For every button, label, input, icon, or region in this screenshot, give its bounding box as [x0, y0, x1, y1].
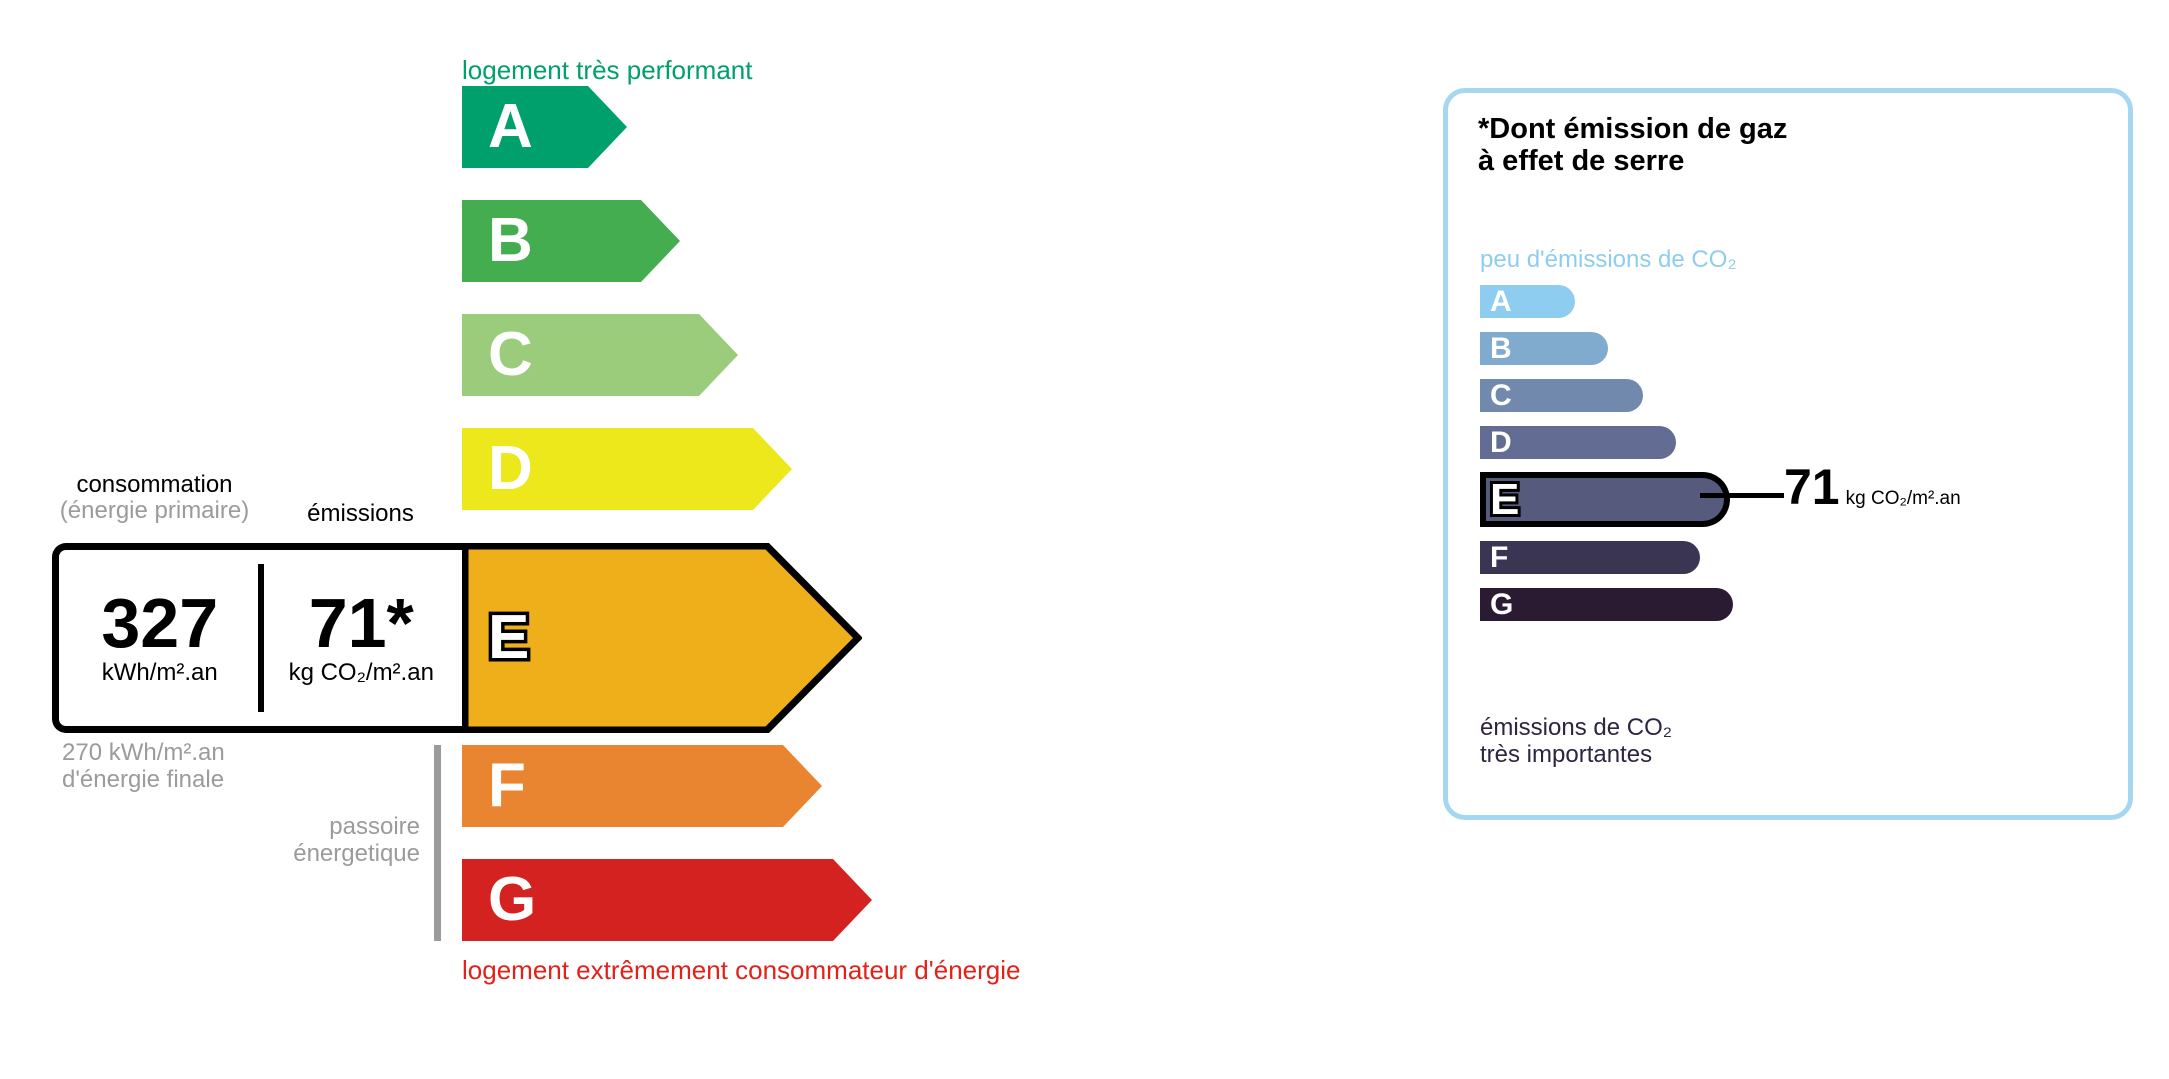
- arrow-shape-icon: [462, 86, 627, 168]
- co2-class-letter: G: [1490, 590, 1513, 620]
- final-energy-line2: d'énergie finale: [62, 766, 225, 793]
- passoire-energetique-label: passoire énergetique: [240, 813, 420, 868]
- consumption-value: 327: [101, 589, 218, 658]
- co2-class-bar-b[interactable]: B: [1480, 332, 1608, 365]
- energy-bottom-caption: logement extrêmement consommateur d'éner…: [462, 955, 1020, 986]
- co2-class-bar-d[interactable]: D: [1480, 426, 1676, 459]
- energy-class-bar-b[interactable]: B: [462, 200, 680, 282]
- emissions-value: 71*: [309, 589, 414, 658]
- emissions-label: émissions: [258, 500, 463, 528]
- energy-class-bar-f[interactable]: F: [462, 745, 822, 827]
- ghg-top-caption: peu d'émissions de CO₂: [1480, 246, 1737, 274]
- co2-class-bar-a[interactable]: A: [1480, 285, 1575, 318]
- passoire-line2: énergetique: [240, 840, 420, 867]
- energy-class-bar-a[interactable]: A: [462, 86, 627, 168]
- measurement-box: 327 kWh/m².an 71* kg CO₂/m².an: [52, 543, 462, 733]
- energy-class-letter: D: [488, 438, 533, 500]
- passoire-line1: passoire: [240, 813, 420, 840]
- energy-class-letter: F: [488, 755, 526, 817]
- energy-class-letter-selected: E: [488, 607, 529, 669]
- co2-class-letter: D: [1490, 428, 1512, 458]
- energy-class-bar-g[interactable]: G: [462, 859, 872, 941]
- ghg-bottom-caption-line1: émissions de CO₂: [1480, 714, 1672, 741]
- energy-performance-panel: logement très performant A B C: [0, 0, 1420, 1079]
- energy-top-caption: logement très performant: [462, 55, 752, 86]
- emissions-value-cell: 71* kg CO₂/m².an: [261, 550, 463, 726]
- ghg-bottom-caption: émissions de CO₂ très importantes: [1480, 714, 1672, 769]
- energy-class-bar-d[interactable]: D: [462, 428, 792, 510]
- co2-callout-value: 71: [1784, 459, 1840, 515]
- co2-class-letter-selected: E: [1490, 478, 1519, 522]
- consumption-label-title: consommation: [76, 471, 232, 498]
- emissions-unit: kg CO₂/m².an: [289, 659, 434, 687]
- energy-class-bar-e-selected[interactable]: E: [462, 543, 862, 733]
- co2-callout-unit: kg CO₂/m².an: [1846, 488, 1961, 509]
- co2-class-letter: C: [1490, 381, 1512, 411]
- co2-class-bar-f[interactable]: F: [1480, 541, 1700, 574]
- energy-class-letter: A: [488, 96, 533, 158]
- co2-class-letter: B: [1490, 334, 1512, 364]
- co2-class-letter: F: [1490, 543, 1508, 573]
- co2-bar-left-edge: [1480, 472, 1486, 527]
- ghg-title-line2: à effet de serre: [1478, 145, 1787, 177]
- co2-callout-leader-line: [1700, 493, 1784, 498]
- final-energy-note: 270 kWh/m².an d'énergie finale: [62, 739, 225, 794]
- ghg-bottom-caption-line2: très importantes: [1480, 741, 1672, 768]
- consumption-label: consommation (énergie primaire): [52, 472, 257, 524]
- ghg-panel-title: *Dont émission de gaz à effet de serre: [1478, 113, 1787, 178]
- ghg-emissions-panel: *Dont émission de gaz à effet de serre p…: [1443, 88, 2133, 820]
- co2-bar-shape: [1480, 588, 1733, 621]
- energy-class-letter: G: [488, 869, 536, 931]
- energy-class-letter: C: [488, 324, 533, 386]
- consumption-unit: kWh/m².an: [102, 659, 218, 687]
- passoire-bracket-line: [434, 745, 441, 941]
- consumption-value-cell: 327 kWh/m².an: [59, 550, 261, 726]
- co2-class-bar-c[interactable]: C: [1480, 379, 1643, 412]
- energy-class-letter: B: [488, 210, 533, 272]
- co2-class-bar-g[interactable]: G: [1480, 588, 1733, 621]
- consumption-label-sub: (énergie primaire): [52, 498, 257, 524]
- co2-class-letter: A: [1490, 287, 1512, 317]
- co2-class-bar-e-selected[interactable]: E: [1480, 472, 1730, 527]
- energy-class-bar-c[interactable]: C: [462, 314, 738, 396]
- ghg-title-line1: *Dont émission de gaz: [1478, 113, 1787, 145]
- final-energy-line1: 270 kWh/m².an: [62, 739, 225, 766]
- co2-callout: 71kg CO₂/m².an: [1784, 462, 1961, 512]
- co2-bar-shape: [1480, 541, 1700, 574]
